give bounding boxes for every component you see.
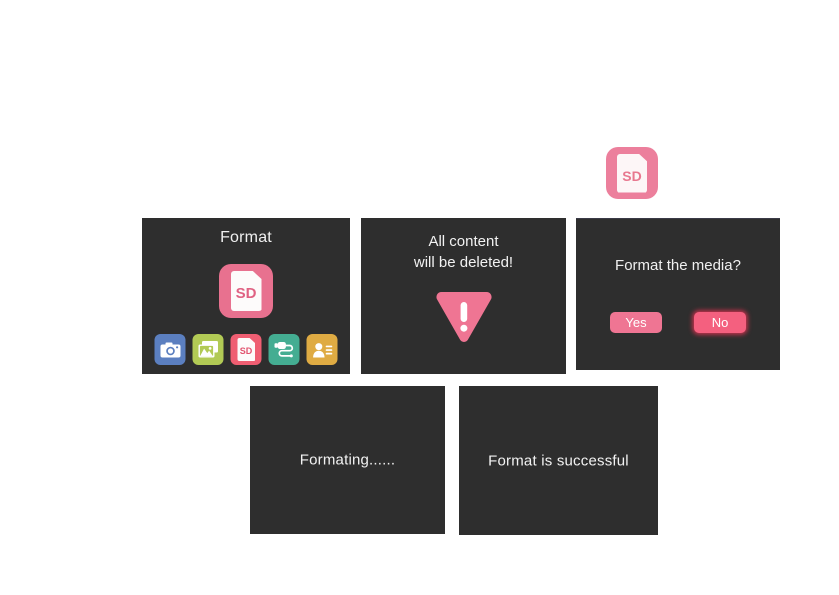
sd-card-body: SD bbox=[237, 338, 255, 361]
yes-button[interactable]: Yes bbox=[610, 312, 662, 333]
sd-card-icon[interactable]: SD bbox=[606, 147, 658, 199]
screens-stage: SD Format SD bbox=[0, 0, 839, 595]
sd-card-icon: SD bbox=[219, 264, 273, 318]
delete-warning-panel: All content will be deleted! bbox=[361, 218, 566, 374]
mode-icon-row: SD bbox=[155, 334, 338, 365]
warning-triangle-icon bbox=[436, 290, 492, 349]
sd-card-body: SD bbox=[231, 271, 262, 311]
format-success-panel: Format is successful bbox=[459, 386, 658, 535]
camera-icon[interactable] bbox=[155, 334, 186, 365]
contact-icon[interactable] bbox=[307, 334, 338, 365]
sd-card-label: SD bbox=[622, 169, 641, 183]
usb-cable-icon[interactable] bbox=[269, 334, 300, 365]
warning-message: All content will be deleted! bbox=[361, 231, 566, 273]
confirm-button-row: Yes No bbox=[576, 312, 780, 333]
warning-message-line2: will be deleted! bbox=[361, 252, 566, 273]
gallery-icon[interactable] bbox=[193, 334, 224, 365]
warning-message-line1: All content bbox=[361, 231, 566, 252]
status-text: Formating...... bbox=[250, 452, 445, 469]
sd-card-body: SD bbox=[617, 154, 647, 193]
selected-icon-preview: SD bbox=[219, 264, 273, 318]
no-button[interactable]: No bbox=[694, 312, 746, 333]
confirm-question: Format the media? bbox=[576, 257, 780, 274]
formatting-progress-panel: Formating...... bbox=[250, 386, 445, 534]
status-text: Format is successful bbox=[459, 452, 658, 469]
sd-card-label: SD bbox=[236, 286, 257, 301]
sd-card-label: SD bbox=[240, 347, 253, 356]
sd-card-icon[interactable]: SD bbox=[231, 334, 262, 365]
format-menu-panel: Format SD bbox=[142, 218, 350, 374]
page-title: Format bbox=[142, 229, 350, 247]
confirm-format-panel: Format the media? Yes No bbox=[576, 218, 780, 370]
